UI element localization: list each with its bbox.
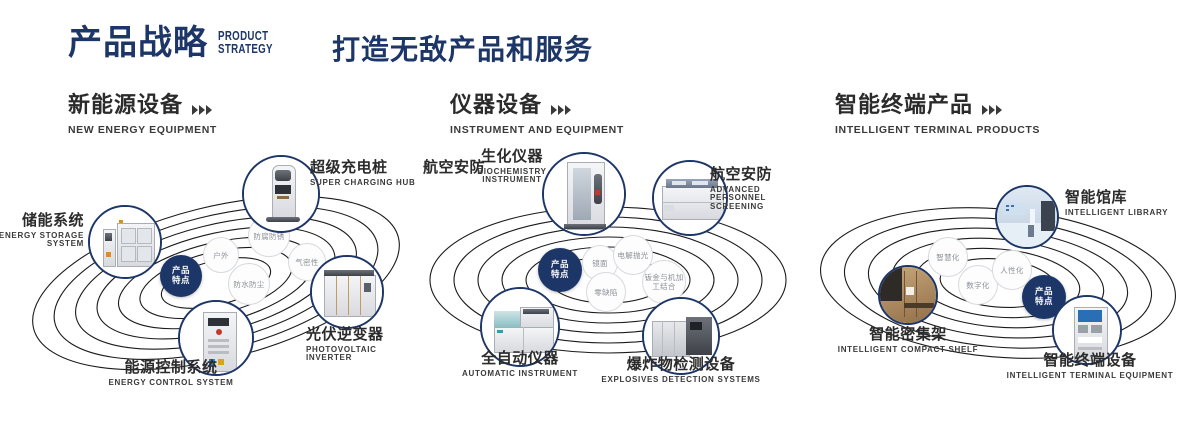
section-title-en: INSTRUMENT AND EQUIPMENT: [450, 124, 624, 136]
node-caption-en: EXPLOSIVES DETECTION SYSTEMS: [590, 376, 772, 384]
page-title: 产品战略: [68, 26, 208, 60]
node-caption-cn: 爆炸物检测设备: [590, 357, 772, 373]
section-title-en: NEW ENERGY EQUIPMENT: [68, 124, 217, 136]
section-heading-new-energy: 新能源设备 NEW ENERGY EQUIPMENT: [68, 95, 217, 136]
section-title-cn: 智能终端产品: [835, 95, 973, 117]
node-caption-en: AUTOMATIC INSTRUMENT: [432, 370, 608, 378]
node-caption-en: SUPER CHARGING HUB: [310, 179, 416, 187]
node-caption-cn: 超级充电桩: [310, 160, 416, 176]
biochemistry-scanner-icon: [544, 154, 624, 234]
core-bubble-instrument: 产品 特点: [538, 248, 582, 292]
node-caption-cn: 全自动仪器: [432, 351, 608, 367]
node-caption-explosives-detection: 爆炸物检测设备 EXPLOSIVES DETECTION SYSTEMS: [590, 357, 772, 384]
node-caption-cn: 光伏逆变器: [306, 327, 420, 343]
library-room-icon: [997, 187, 1057, 247]
product-bubble-charging-hub[interactable]: [242, 155, 320, 233]
poster-canvas: 产品战略 PRODUCT STRATEGY 打造无敌产品和服务 新能源设备 NE…: [0, 0, 1200, 422]
page-title-en: PRODUCT STRATEGY: [218, 30, 273, 56]
core-bubble-line1: 产品: [551, 260, 569, 270]
node-caption-cn: 智能馆库: [1065, 190, 1168, 206]
chevron-right-icon: [551, 105, 571, 117]
feature-bubble: 防水防尘: [228, 263, 270, 305]
section-heading-instrument: 仪器设备 INSTRUMENT AND EQUIPMENT: [450, 95, 624, 136]
product-bubble-compact-shelf[interactable]: [878, 265, 938, 325]
node-caption-pv-inverter: 光伏逆变器 PHOTOVOLTAIC INVERTER: [306, 327, 420, 363]
chevron-right-icon: [982, 105, 1002, 117]
node-caption-energy-control: 能源控制系统 ENERGY CONTROL SYSTEM: [86, 360, 256, 387]
node-caption-terminal-equipment: 智能终端设备 INTELLIGENT TERMINAL EQUIPMENT: [1000, 353, 1180, 380]
node-caption-en: INTELLIGENT TERMINAL EQUIPMENT: [1000, 372, 1180, 380]
product-bubble-energy-storage[interactable]: [88, 205, 162, 279]
node-caption-energy-storage: 储能系统 ENERGY STORAGE SYSTEM: [0, 213, 84, 249]
section-title-cn: 新能源设备: [68, 95, 183, 117]
product-bubble-biochemistry[interactable]: [542, 152, 626, 236]
node-caption-en: PHOTOVOLTAIC INVERTER: [306, 346, 420, 363]
node-caption-en: INTELLIGENT LIBRARY: [1065, 209, 1168, 217]
node-caption-cn: 智能密集架: [828, 327, 988, 343]
node-caption-en: BIOCHEMISTRY INSTRUMENT: [472, 168, 552, 185]
node-caption-charging-hub: 超级充电桩 SUPER CHARGING HUB: [310, 160, 416, 187]
cluster-instrument: 产品 特点 镜面 电解抛光 零缺陷 钣金与机加工结合 航空安防 生化仪器 BIO…: [410, 155, 810, 405]
node-caption-en: INTELLIGENT COMPACT SHELF: [828, 346, 988, 354]
node-caption-biochemistry: 生化仪器 BIOCHEMISTRY INSTRUMENT: [472, 149, 552, 185]
node-caption-compact-shelf: 智能密集架 INTELLIGENT COMPACT SHELF: [828, 327, 988, 354]
core-bubble-line2: 特点: [1035, 297, 1053, 307]
feature-bubble: 零缺陷: [586, 272, 626, 312]
section-heading-intelligent-terminal: 智能终端产品 INTELLIGENT TERMINAL PRODUCTS: [835, 95, 1040, 136]
feature-bubble: 户外: [203, 237, 239, 273]
compact-shelving-icon: [880, 267, 936, 323]
cluster-new-energy: 产品 特点 户外 防腐防锈 防水防尘 气密性 储能系统 ENERGY S: [20, 155, 420, 405]
node-caption-library: 智能馆库 INTELLIGENT LIBRARY: [1065, 190, 1168, 217]
poster-header: 产品战略 PRODUCT STRATEGY: [68, 26, 288, 60]
feature-bubble: 人性化: [992, 250, 1032, 290]
core-bubble-line2: 特点: [551, 270, 569, 280]
node-caption-en: ADVANCED PERSONNEL SCREENING: [710, 186, 810, 211]
node-caption-en: ENERGY CONTROL SYSTEM: [86, 379, 256, 387]
node-caption-cn: 智能终端设备: [1000, 353, 1180, 369]
core-bubble-line1: 产品: [172, 266, 190, 276]
node-caption-automatic-instrument: 全自动仪器 AUTOMATIC INSTRUMENT: [432, 351, 608, 378]
page-title-en-line2: STRATEGY: [218, 43, 273, 56]
core-bubble-line1: 产品: [1035, 287, 1053, 297]
node-caption-en: ENERGY STORAGE SYSTEM: [0, 232, 84, 249]
node-caption-cn: 生化仪器: [472, 149, 552, 165]
core-bubble-new-energy: 产品 特点: [160, 255, 202, 297]
node-caption-cn: 储能系统: [0, 213, 84, 229]
node-caption-cn: 航空安防: [710, 167, 810, 183]
node-caption-cn: 能源控制系统: [86, 360, 256, 376]
page-slogan: 打造无敌产品和服务: [332, 36, 593, 64]
cluster-intelligent-terminal: 产品 特点 智慧化 数字化 人性化 智能馆库 INTELLIGENT LIBRA: [800, 155, 1200, 405]
product-bubble-library[interactable]: [995, 185, 1059, 249]
energy-storage-cabinet-icon: [90, 207, 160, 277]
core-bubble-line2: 特点: [172, 276, 190, 286]
node-caption-screening: 航空安防 ADVANCED PERSONNEL SCREENING: [710, 167, 810, 211]
ev-charging-pile-icon: [244, 157, 318, 231]
section-title-en: INTELLIGENT TERMINAL PRODUCTS: [835, 124, 1040, 136]
section-title-cn: 仪器设备: [450, 95, 542, 117]
pv-inverter-cabinet-icon: [312, 257, 382, 327]
product-bubble-pv-inverter[interactable]: [310, 255, 384, 329]
chevron-right-icon: [192, 105, 212, 117]
